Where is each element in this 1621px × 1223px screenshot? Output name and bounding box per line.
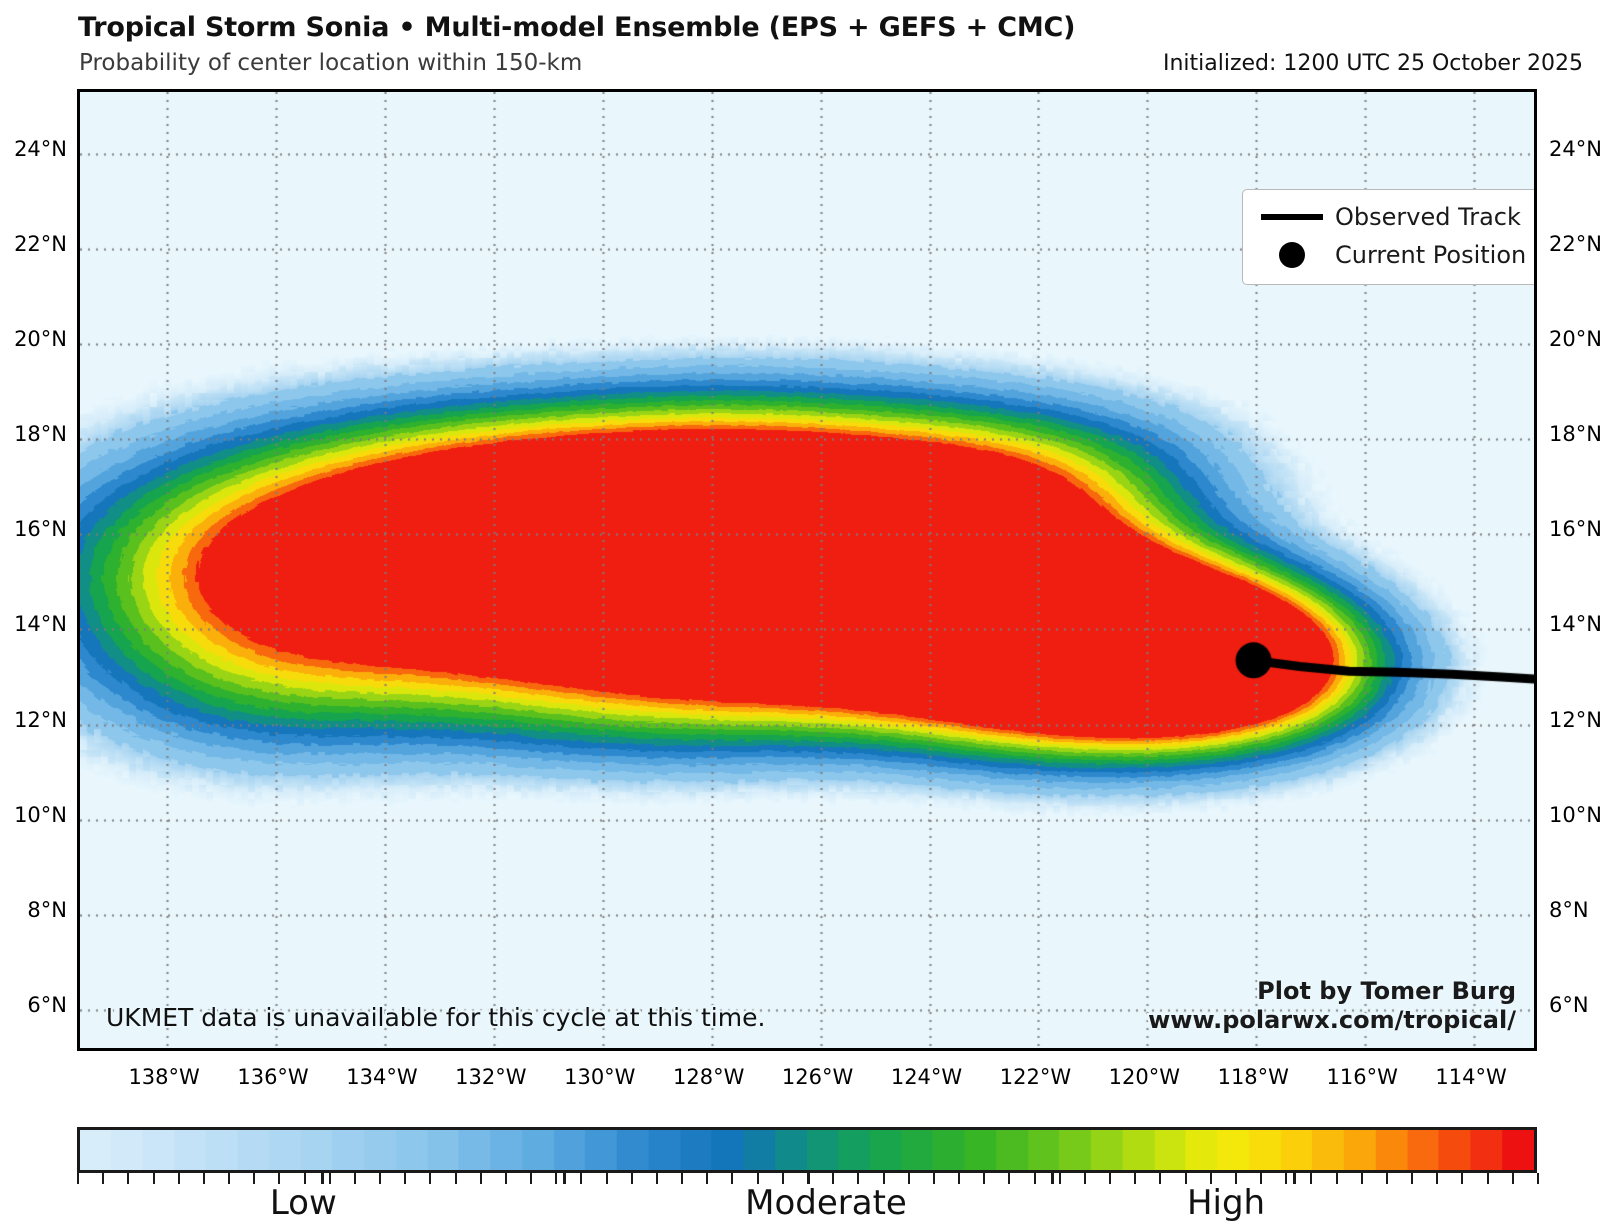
- colorbar-tick: [580, 1173, 582, 1184]
- colorbar-tick: [731, 1173, 733, 1184]
- track-line-icon: [1255, 214, 1329, 220]
- colorbar-tick: [983, 1173, 985, 1184]
- colorbar-tick: [530, 1173, 532, 1184]
- x-axis-tick-label: 122°W: [1000, 1065, 1071, 1089]
- chart-subtitle: Probability of center location within 15…: [79, 50, 582, 76]
- y-axis-tick-label-left: 6°N: [27, 993, 67, 1017]
- x-axis-tick-label: 116°W: [1326, 1065, 1397, 1089]
- colorbar-gradient: [77, 1127, 1537, 1173]
- colorbar-tick: [606, 1173, 608, 1184]
- x-axis-tick-label: 134°W: [346, 1065, 417, 1089]
- y-axis-tick-label-left: 14°N: [14, 612, 67, 636]
- colorbar-major-tick: [1293, 1173, 1296, 1184]
- y-axis-tick-label-left: 8°N: [27, 898, 67, 922]
- x-axis-tick-label: 114°W: [1435, 1065, 1506, 1089]
- colorbar-tick: [1537, 1173, 1539, 1184]
- probability-colorbar: [77, 1127, 1537, 1173]
- y-axis-tick-label-right: 18°N: [1549, 422, 1602, 446]
- colorbar-tick: [253, 1173, 255, 1184]
- x-axis-tick-label: 136°W: [237, 1065, 308, 1089]
- y-axis-tick-label-left: 18°N: [14, 422, 67, 446]
- colorbar-tick: [127, 1173, 129, 1184]
- y-axis-tick-label-left: 10°N: [14, 803, 67, 827]
- colorbar-tick: [1512, 1173, 1514, 1184]
- y-axis-tick-label-left: 16°N: [14, 517, 67, 541]
- colorbar-major-tick: [563, 1173, 566, 1184]
- y-axis-tick-label-right: 12°N: [1549, 708, 1602, 732]
- y-axis-tick-label-right: 24°N: [1549, 137, 1602, 161]
- y-axis-tick-label-right: 8°N: [1549, 898, 1589, 922]
- y-axis-tick-label-left: 20°N: [14, 327, 67, 351]
- colorbar-tick: [1285, 1173, 1287, 1184]
- colorbar-tick: [1361, 1173, 1363, 1184]
- colorbar-tick: [1411, 1173, 1413, 1184]
- page-title: Tropical Storm Sonia • Multi-model Ensem…: [78, 12, 1075, 43]
- map-plot-area: Observed Track Current Position UKMET da…: [77, 89, 1537, 1051]
- y-axis-tick-label-left: 22°N: [14, 232, 67, 256]
- y-axis-tick-label-right: 16°N: [1549, 517, 1602, 541]
- legend-item-current-position: Current Position: [1255, 236, 1537, 274]
- colorbar-tick: [631, 1173, 633, 1184]
- legend-item-observed-track: Observed Track: [1255, 198, 1537, 236]
- map-legend: Observed Track Current Position: [1242, 189, 1537, 285]
- credit-url: www.polarwx.com/tropical/: [1148, 1006, 1516, 1034]
- y-axis-tick-label-right: 6°N: [1549, 993, 1589, 1017]
- colorbar-tick: [1034, 1173, 1036, 1184]
- colorbar-tick: [203, 1173, 205, 1184]
- y-axis-tick-label-right: 20°N: [1549, 327, 1602, 351]
- y-axis-tick-label-right: 22°N: [1549, 232, 1602, 256]
- colorbar-tick: [354, 1173, 356, 1184]
- credit-block: Plot by Tomer Burg www.polarwx.com/tropi…: [1148, 977, 1516, 1034]
- colorbar-tick: [656, 1173, 658, 1184]
- colorbar-tick: [153, 1173, 155, 1184]
- colorbar-tick: [1059, 1173, 1061, 1184]
- colorbar-tick: [908, 1173, 910, 1184]
- colorbar-tick: [958, 1173, 960, 1184]
- colorbar-tick: [1436, 1173, 1438, 1184]
- credit-author: Plot by Tomer Burg: [1148, 977, 1516, 1005]
- colorbar-tick: [1310, 1173, 1312, 1184]
- x-axis-tick-label: 124°W: [891, 1065, 962, 1089]
- x-axis-tick-label: 128°W: [673, 1065, 744, 1089]
- x-axis-tick-label: 130°W: [564, 1065, 635, 1089]
- colorbar-tick: [455, 1173, 457, 1184]
- colorbar-tick: [77, 1173, 79, 1184]
- colorbar-tick: [505, 1173, 507, 1184]
- colorbar-tick: [178, 1173, 180, 1184]
- y-axis-tick-label-left: 24°N: [14, 137, 67, 161]
- colorbar-tick: [1386, 1173, 1388, 1184]
- colorbar-tick: [1134, 1173, 1136, 1184]
- colorbar-tick: [1109, 1173, 1111, 1184]
- x-axis-tick-label: 138°W: [128, 1065, 199, 1089]
- colorbar-tick: [1008, 1173, 1010, 1184]
- y-axis-tick-label-left: 12°N: [14, 708, 67, 732]
- x-axis-tick-label: 132°W: [455, 1065, 526, 1089]
- x-axis-tick-label: 118°W: [1218, 1065, 1289, 1089]
- colorbar-category-label: High: [1187, 1183, 1265, 1223]
- colorbar-tick: [1487, 1173, 1489, 1184]
- colorbar-category-label: Low: [270, 1183, 337, 1223]
- colorbar-tick: [555, 1173, 557, 1184]
- colorbar-major-tick: [1051, 1173, 1054, 1184]
- colorbar-tick: [379, 1173, 381, 1184]
- colorbar-tick: [404, 1173, 406, 1184]
- colorbar-tick: [1461, 1173, 1463, 1184]
- legend-label-observed-track: Observed Track: [1329, 203, 1521, 231]
- colorbar-category-label: Moderate: [745, 1183, 907, 1223]
- x-axis-tick-label: 120°W: [1109, 1065, 1180, 1089]
- chart-header: Tropical Storm Sonia • Multi-model Ensem…: [0, 0, 1621, 88]
- colorbar-tick: [681, 1173, 683, 1184]
- colorbar-tick: [228, 1173, 230, 1184]
- y-axis-tick-label-right: 14°N: [1549, 612, 1602, 636]
- legend-label-current-position: Current Position: [1329, 241, 1526, 269]
- colorbar-tick: [706, 1173, 708, 1184]
- colorbar-tick: [480, 1173, 482, 1184]
- colorbar-tick: [1336, 1173, 1338, 1184]
- ukmet-unavailable-note: UKMET data is unavailable for this cycle…: [106, 1003, 765, 1032]
- colorbar-tick: [933, 1173, 935, 1184]
- x-axis-tick-label: 126°W: [782, 1065, 853, 1089]
- colorbar-tick: [1084, 1173, 1086, 1184]
- colorbar-tick: [429, 1173, 431, 1184]
- position-dot-icon: [1255, 242, 1329, 268]
- colorbar-tick: [1159, 1173, 1161, 1184]
- initialization-timestamp: Initialized: 1200 UTC 25 October 2025: [1163, 51, 1583, 76]
- colorbar-tick: [102, 1173, 104, 1184]
- y-axis-tick-label-right: 10°N: [1549, 803, 1602, 827]
